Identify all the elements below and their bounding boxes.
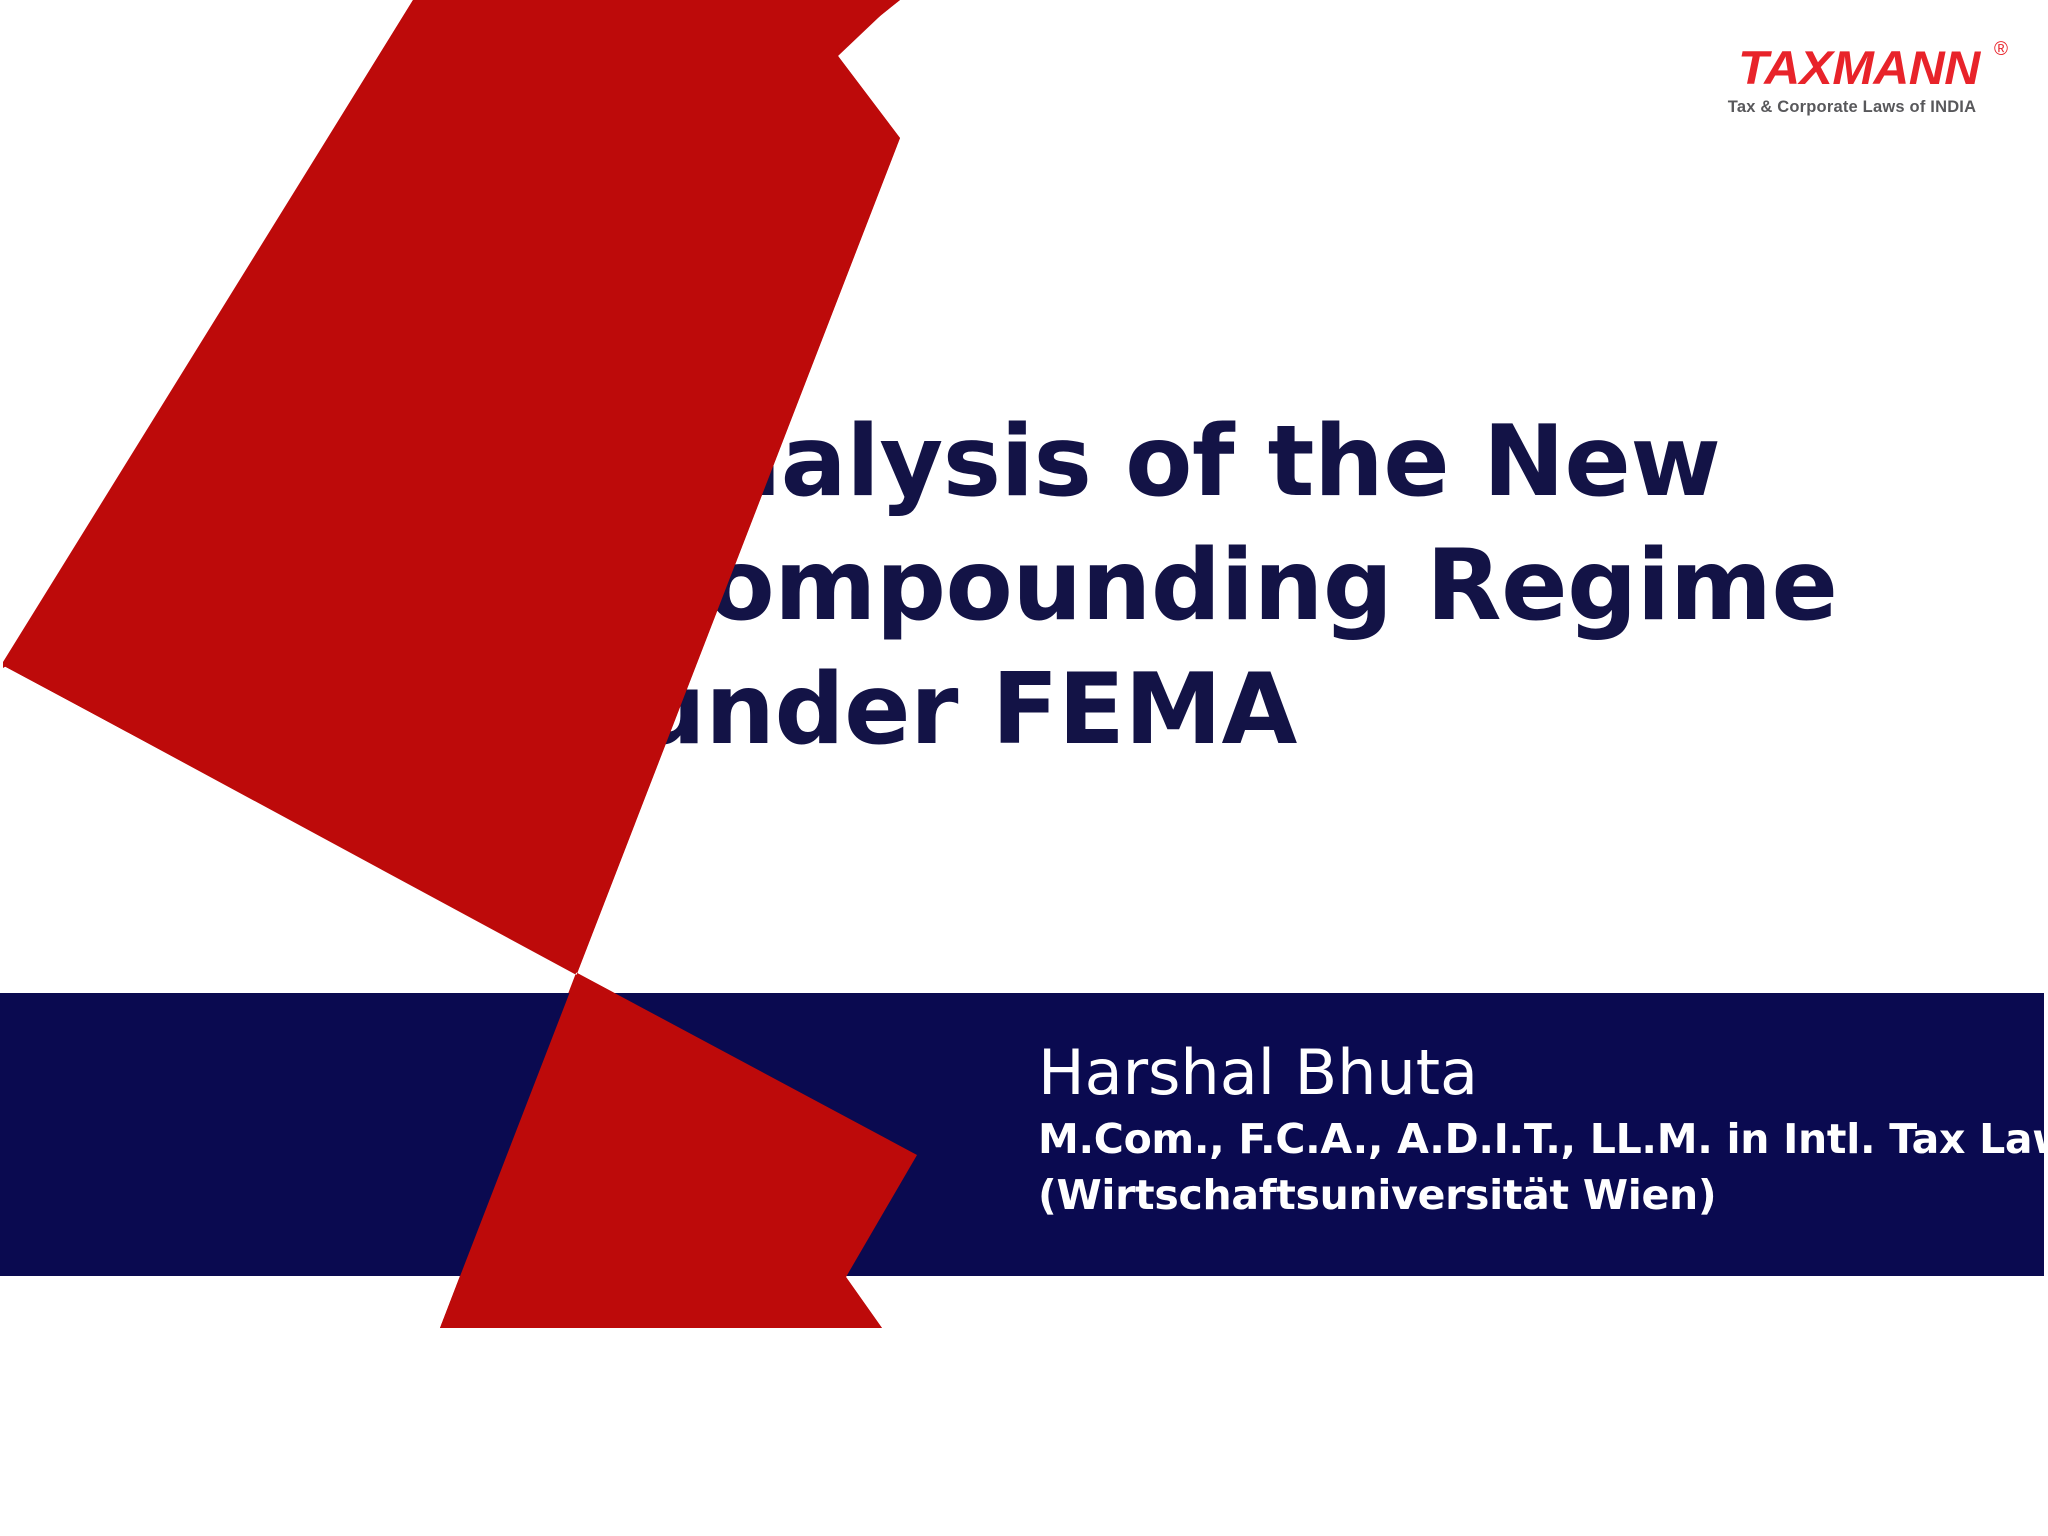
author-info: Harshal Bhuta M.Com., F.C.A., A.D.I.T., …: [1038, 1035, 2038, 1223]
registered-trademark-icon: ®: [1994, 40, 2008, 59]
title-line-3: under FEMA: [636, 648, 2016, 772]
author-name: Harshal Bhuta: [1038, 1035, 2038, 1111]
logo-tagline: Tax & Corporate Laws of INDIA: [1712, 99, 1992, 116]
title-line-2: Compounding Regime: [636, 524, 2016, 648]
author-credentials-line-2: (Wirtschaftsuniversität Wien): [1038, 1167, 2038, 1223]
author-credentials-line-1: M.Com., F.C.A., A.D.I.T., LL.M. in Intl.…: [1038, 1111, 2038, 1167]
title-line-1: Analysis of the New: [636, 400, 2016, 524]
logo-wordmark-text: TAXMANN: [1738, 44, 1980, 91]
presentation-slide: TAXMANN ® Tax & Corporate Laws of INDIA …: [0, 0, 2048, 1536]
logo-wordmark-row: TAXMANN ®: [1712, 44, 1992, 91]
slide-title: Analysis of the New Compounding Regime u…: [636, 400, 2016, 772]
taxmann-logo: TAXMANN ® Tax & Corporate Laws of INDIA: [1712, 44, 1992, 116]
